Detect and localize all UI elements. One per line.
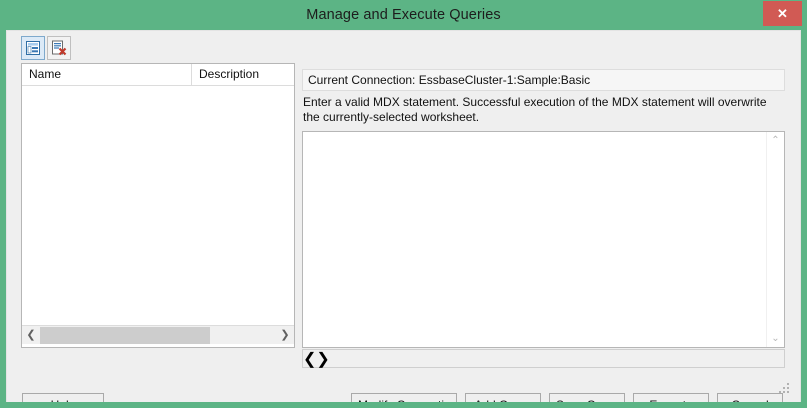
hscroll-track[interactable] bbox=[40, 327, 276, 344]
mdx-editor-panel: ⌃ ⌄ bbox=[302, 131, 785, 348]
current-connection-field: Current Connection: EssbaseCluster-1:Sam… bbox=[302, 69, 785, 91]
resize-grip[interactable] bbox=[779, 383, 791, 395]
mdx-hscroll-right-arrow[interactable]: ❯ bbox=[316, 349, 329, 369]
mdx-vscrollbar[interactable]: ⌃ ⌄ bbox=[766, 132, 784, 347]
hscroll-thumb[interactable] bbox=[40, 327, 210, 344]
query-toolbar bbox=[21, 35, 71, 61]
mdx-statement-input[interactable] bbox=[303, 132, 766, 347]
dialog-client-area: Name Description ❮ ❯ Current Connection:… bbox=[6, 30, 801, 402]
vscroll-down-arrow[interactable]: ⌄ bbox=[767, 330, 784, 347]
hscroll-left-arrow[interactable]: ❮ bbox=[22, 327, 40, 344]
column-header-name[interactable]: Name bbox=[22, 64, 192, 85]
vscroll-up-arrow[interactable]: ⌃ bbox=[767, 132, 784, 149]
mdx-hscroll-left-arrow[interactable]: ❮ bbox=[303, 349, 316, 369]
new-query-icon[interactable] bbox=[21, 36, 45, 60]
query-list-hscrollbar[interactable]: ❮ ❯ bbox=[22, 325, 294, 344]
delete-query-glyph bbox=[51, 40, 67, 56]
window-bottom-border bbox=[0, 402, 807, 408]
window-title: Manage and Execute Queries bbox=[0, 0, 807, 30]
delete-query-icon[interactable] bbox=[47, 36, 71, 60]
manage-execute-queries-dialog: Manage and Execute Queries ✕ bbox=[0, 0, 807, 408]
close-icon[interactable]: ✕ bbox=[763, 1, 802, 26]
hscroll-right-arrow[interactable]: ❯ bbox=[276, 327, 294, 344]
query-list-body[interactable] bbox=[22, 86, 294, 325]
query-list-header: Name Description bbox=[22, 64, 294, 86]
column-header-description[interactable]: Description bbox=[192, 64, 294, 85]
mdx-hscrollbar[interactable]: ❮ ❯ bbox=[302, 349, 785, 368]
new-query-glyph bbox=[25, 40, 41, 56]
title-bar: Manage and Execute Queries ✕ bbox=[0, 0, 807, 30]
query-list-panel: Name Description ❮ ❯ bbox=[21, 63, 295, 348]
mdx-instruction-text: Enter a valid MDX statement. Successful … bbox=[303, 95, 773, 125]
